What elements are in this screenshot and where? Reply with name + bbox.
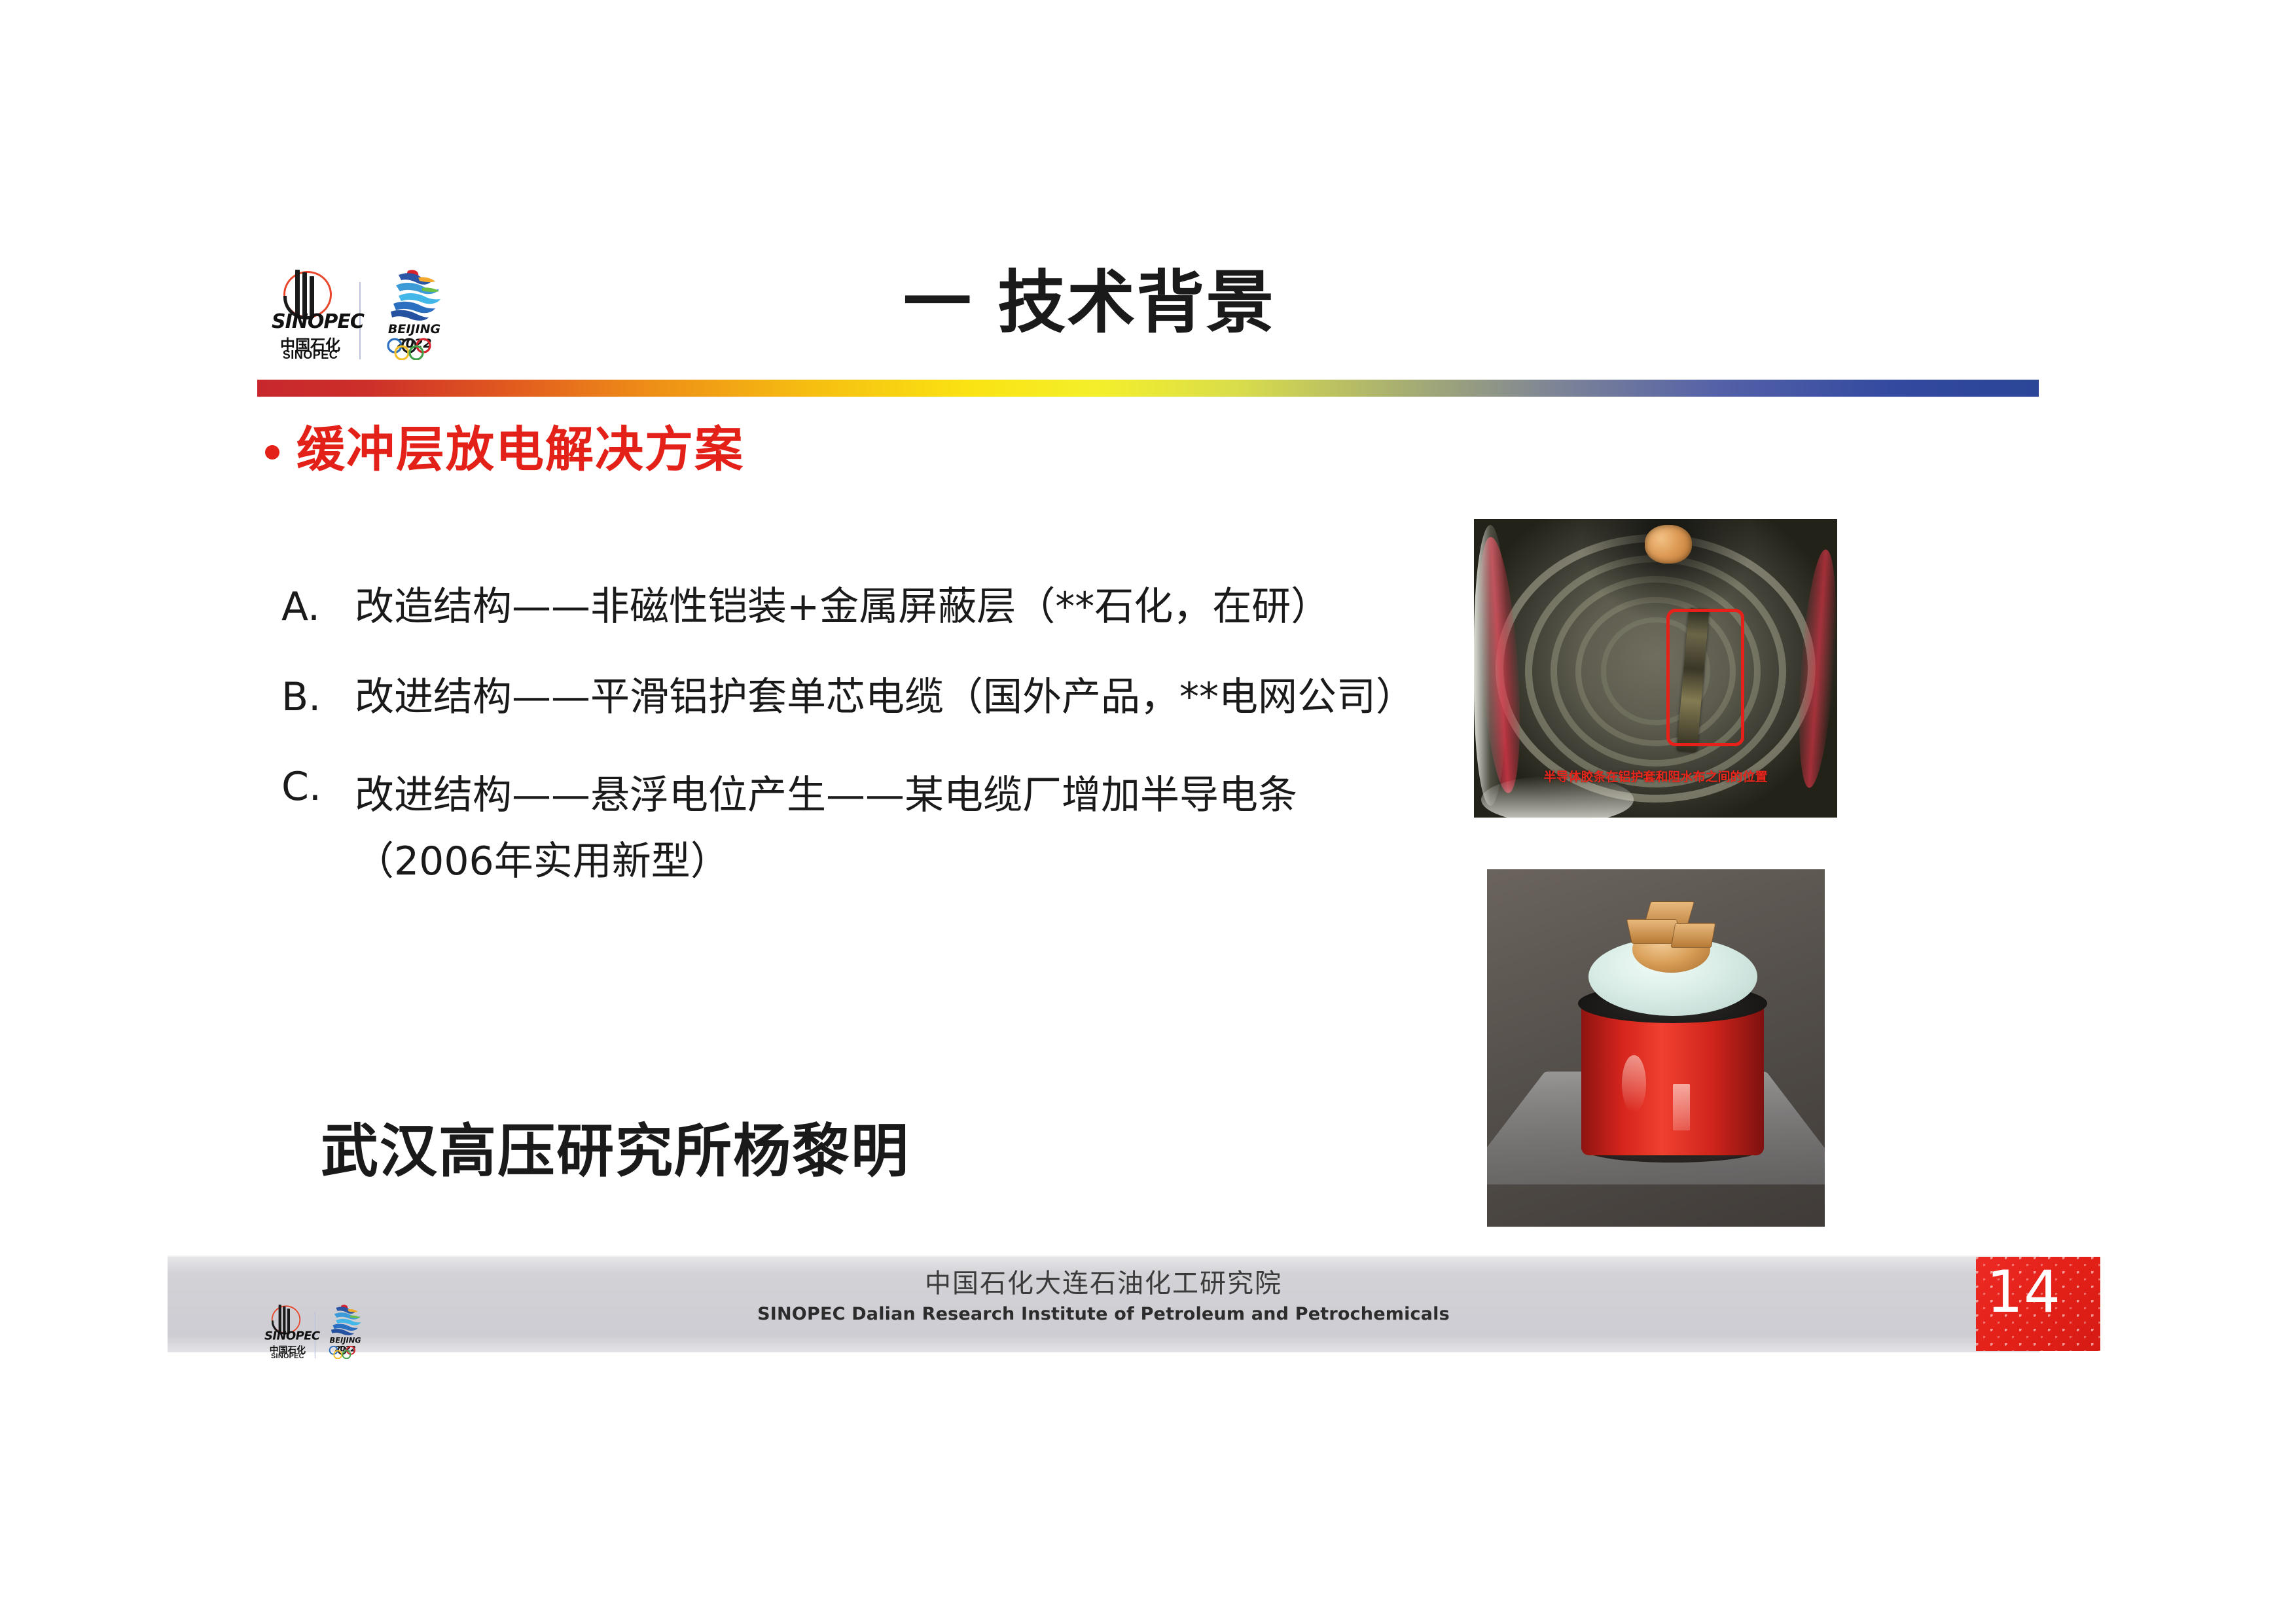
- footer-institute-cn: 中国石化大连石油化工研究院: [168, 1267, 2039, 1300]
- sample-copper-segment: [1670, 923, 1715, 948]
- sample-print-marking: [1673, 1084, 1690, 1130]
- olympic-rings-icon: [384, 338, 444, 360]
- list-item-text: 改进结构——悬浮电位产生——某电缆厂增加半导电条（2006年实用新型）: [355, 763, 1420, 895]
- section-heading-label: 缓冲层放电解决方案: [296, 425, 744, 474]
- page-number: 14: [1986, 1262, 2061, 1322]
- winter-olympics-skater-icon: [379, 268, 447, 322]
- list-item-text: 改进结构——平滑铝护套单芯电缆（国外产品，**电网公司）: [355, 673, 1420, 723]
- olympic-rings-icon: [327, 1346, 363, 1359]
- sinopec-name-en: SINOPEC: [264, 1352, 311, 1360]
- page-title: 一 技术背景: [903, 262, 1754, 344]
- list-item-text: 改造结构——非磁性铠装+金属屏蔽层（**石化，在研）: [355, 583, 1420, 632]
- list-item-marker: C.: [281, 763, 355, 895]
- sheath-copper-spot: [1645, 525, 1692, 564]
- footer-band: SINOPEC 中国石化 SINOPEC: [168, 1255, 2039, 1352]
- header-logo-group: SINOPEC 中国石化 SINOPEC BEIJING 2022: [272, 268, 461, 363]
- list-item: B. 改进结构——平滑铝护套单芯电缆（国外产品，**电网公司）: [281, 673, 1420, 723]
- sheath-water-blocking-tape-left: [1474, 525, 1507, 806]
- list-item-marker: B.: [281, 673, 355, 723]
- solution-list: A. 改造结构——非磁性铠装+金属屏蔽层（**石化，在研） B. 改进结构——平…: [281, 583, 1420, 895]
- cable-sample-photo: [1487, 869, 1825, 1227]
- footer-institute-en: SINOPEC Dalian Research Institute of Pet…: [168, 1304, 2039, 1324]
- section-heading: 缓冲层放电解决方案: [265, 425, 744, 474]
- sinopec-wordmark: SINOPEC: [272, 310, 349, 333]
- slide: SINOPEC 中国石化 SINOPEC BEIJING 2022: [0, 0, 2296, 1624]
- sinopec-wordmark: SINOPEC: [264, 1329, 311, 1343]
- sample-highlight-glare: [1622, 1055, 1645, 1112]
- beijing-2022-logo: BEIJING 2022: [371, 268, 457, 363]
- sinopec-name-en: SINOPEC: [272, 348, 349, 362]
- bullet-dot-icon: [265, 445, 279, 460]
- annotation-rectangle: [1666, 609, 1744, 746]
- page-number-badge: 14: [1976, 1257, 2100, 1351]
- closing-line: 武汉高压研究所杨黎明: [321, 1123, 910, 1180]
- list-item: C. 改进结构——悬浮电位产生——某电缆厂增加半导电条（2006年实用新型）: [281, 763, 1420, 895]
- list-item: A. 改造结构——非磁性铠装+金属屏蔽层（**石化，在研）: [281, 583, 1420, 632]
- list-item-marker: A.: [281, 583, 355, 632]
- photo-annotation-caption: 半导体胶条在铝护套和阻水布之间的位置: [1474, 767, 1837, 785]
- sinopec-logo: SINOPEC 中国石化 SINOPEC: [272, 268, 349, 363]
- title-gradient-rule: [257, 380, 2039, 397]
- cable-sheath-photo: 半导体胶条在铝护套和阻水布之间的位置: [1474, 519, 1837, 818]
- footer-institute-block: 中国石化大连石油化工研究院 SINOPEC Dalian Research In…: [168, 1267, 2039, 1324]
